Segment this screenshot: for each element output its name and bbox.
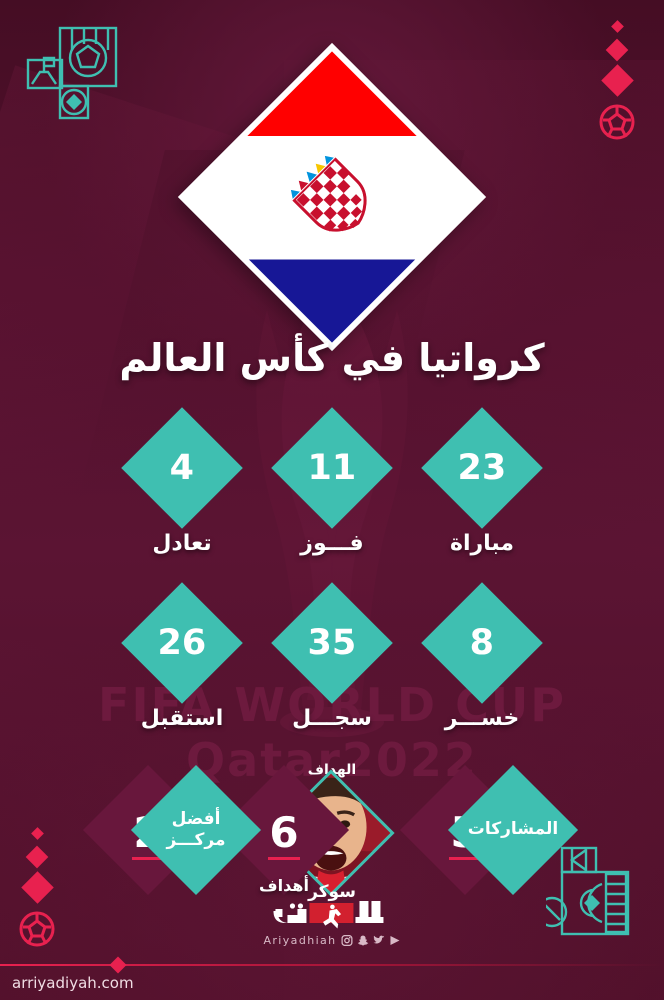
stat-value: 11 bbox=[308, 451, 357, 486]
stat-goals-scored: 35 سجـــل bbox=[257, 600, 407, 731]
brand-footer[interactable]: Ariyadhiah bbox=[263, 895, 400, 947]
stat-best-position: 2 أفضل مركـــز bbox=[98, 770, 248, 900]
page-title: كرواتيا في كأس العالم bbox=[0, 336, 664, 380]
stats-row-1: 23 مباراة 11 فـــوز 4 تعادل bbox=[0, 425, 664, 556]
stat-label: تعادل bbox=[107, 531, 257, 556]
best-position-label: أفضل مركـــز bbox=[150, 784, 242, 876]
stat-losses: 8 خســـر bbox=[407, 600, 557, 731]
stat-diamond: 26 bbox=[121, 582, 243, 704]
diamonds-ball-icon bbox=[598, 22, 636, 141]
goals-label: أهداف bbox=[234, 876, 334, 895]
stat-draws: 4 تعادل bbox=[107, 425, 257, 556]
brand-social-row[interactable]: Ariyadhiah bbox=[263, 934, 400, 947]
goals-number: 6 bbox=[269, 808, 298, 857]
stat-value: 23 bbox=[458, 451, 507, 486]
stat-value: 35 bbox=[308, 626, 357, 661]
instagram-icon[interactable] bbox=[342, 935, 353, 946]
stats-row-3: 5 المشاركات الهداف bbox=[0, 770, 664, 900]
participations-label: المشاركات bbox=[467, 784, 559, 876]
ariyadhiah-logo[interactable] bbox=[263, 895, 400, 929]
stat-participations: 5 المشاركات bbox=[415, 770, 565, 900]
stat-diamond: 35 bbox=[271, 582, 393, 704]
stadium-ball-icon bbox=[18, 26, 126, 122]
stats-row-2: 8 خســـر 35 سجـــل 26 استقبل bbox=[0, 600, 664, 731]
brand-handle: Ariyadhiah bbox=[263, 934, 336, 947]
stat-label: سجـــل bbox=[257, 706, 407, 731]
footer-url: arriyadiyah.com bbox=[12, 974, 134, 992]
play-icon[interactable] bbox=[390, 935, 401, 946]
twitter-icon[interactable] bbox=[374, 935, 385, 946]
snapchat-icon[interactable] bbox=[358, 935, 369, 946]
stat-value: 26 bbox=[158, 626, 207, 661]
stat-diamond: 23 bbox=[421, 407, 543, 529]
stat-diamond: 4 bbox=[121, 407, 243, 529]
stat-value: 8 bbox=[470, 626, 494, 661]
stat-label: فـــوز bbox=[257, 531, 407, 556]
footer-divider bbox=[0, 964, 664, 966]
goals-underline bbox=[268, 857, 300, 860]
stat-value: 4 bbox=[170, 451, 194, 486]
croatia-flag bbox=[223, 88, 441, 306]
stat-wins: 11 فـــوز bbox=[257, 425, 407, 556]
stat-label: خســـر bbox=[407, 706, 557, 731]
best-position-label-line1: أفضل bbox=[172, 809, 221, 830]
stat-matches: 23 مباراة bbox=[407, 425, 557, 556]
stat-diamond: 8 bbox=[421, 582, 543, 704]
stat-goals-conceded: 26 استقبل bbox=[107, 600, 257, 731]
best-position-label-line2: مركـــز bbox=[167, 830, 226, 851]
stat-diamond: 11 bbox=[271, 407, 393, 529]
stat-label: استقبل bbox=[107, 706, 257, 731]
stat-label: مباراة bbox=[407, 531, 557, 556]
